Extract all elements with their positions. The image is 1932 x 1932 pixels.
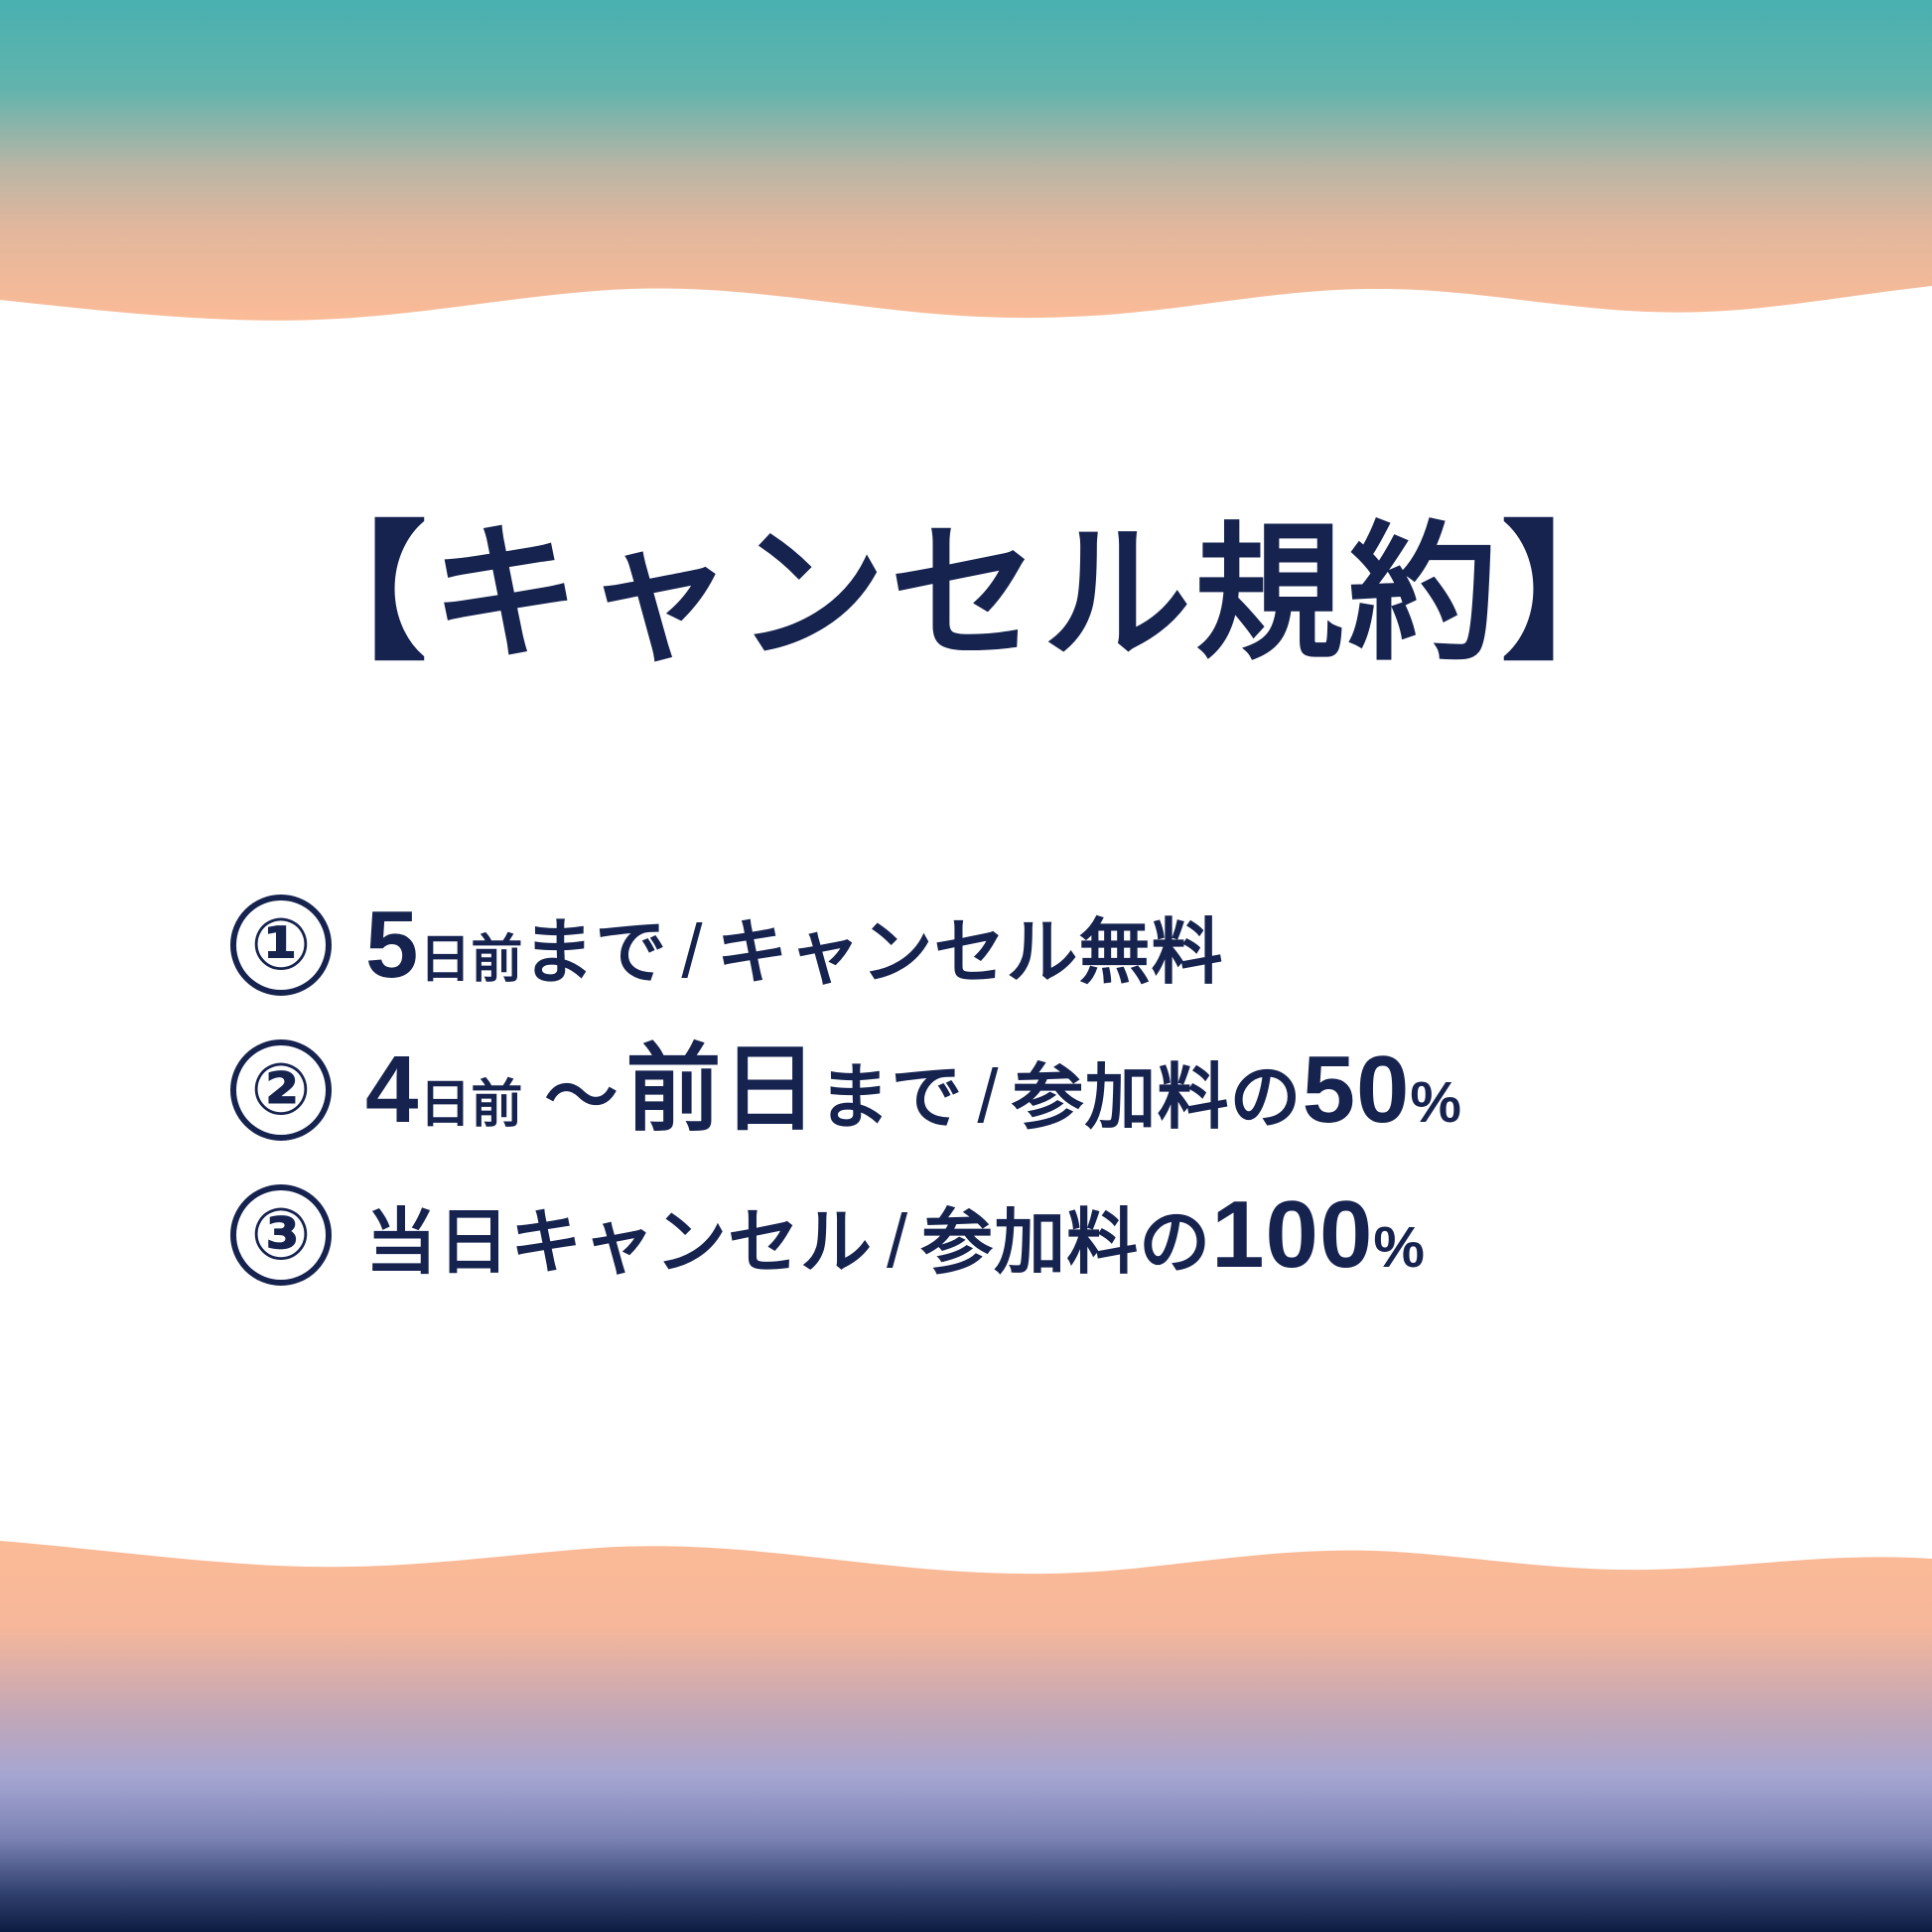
policy-1-fee-label: キャンセル無料 — [717, 917, 1224, 989]
policy-3-fee-unit: % — [1373, 1219, 1425, 1277]
top-gradient-band — [0, 0, 1932, 328]
policy-2-fee-value: 50 — [1303, 1042, 1411, 1138]
policy-2-range-mark: 〜 — [536, 1060, 625, 1134]
policy-2-separator: / — [963, 1059, 1012, 1135]
policy-2-fee-prefix: 参加料の — [1013, 1062, 1303, 1134]
policy-2-range-end: 前日 — [625, 1042, 818, 1138]
policy-3-fee-prefix: 参加料の — [921, 1207, 1211, 1279]
policy-marker-3: ③ — [230, 1184, 332, 1286]
policy-item-2: ② 4 日前 〜 前日 まで / 参加料の 50 % — [230, 1039, 1932, 1141]
policy-3-fee-value: 100 — [1211, 1187, 1373, 1283]
policy-1-separator: / — [667, 914, 716, 990]
cancellation-policy-card: 【キャンセル規約】 ① 5 日前 まで / キャンセル無料 ② 4 日前 — [0, 0, 1932, 1932]
policy-item-3: ③ 当日キャンセル / 参加料の 100 % — [230, 1184, 1932, 1286]
policy-list: ① 5 日前 まで / キャンセル無料 ② 4 日前 〜 前日 — [0, 895, 1932, 1286]
page-title: 【キャンセル規約】 — [278, 519, 1654, 668]
main-content: 【キャンセル規約】 ① 5 日前 まで / キャンセル無料 ② 4 日前 — [0, 328, 1932, 1525]
policy-2-fee-unit: % — [1410, 1074, 1461, 1132]
policy-2-deadline-unit: 日前 — [419, 1079, 522, 1131]
bottom-gradient-band — [0, 1525, 1932, 1932]
policy-text-1: 5 日前 まで / キャンセル無料 — [365, 897, 1224, 993]
bottom-wave-shape — [0, 1541, 1932, 1932]
policy-1-deadline-suffix: まで — [522, 917, 667, 989]
policy-3-separator: / — [873, 1204, 921, 1280]
policy-marker-2: ② — [230, 1039, 332, 1141]
policy-2-deadline-number: 4 — [365, 1042, 419, 1138]
policy-1-deadline-unit: 日前 — [419, 934, 522, 986]
policy-item-1: ① 5 日前 まで / キャンセル無料 — [230, 895, 1932, 996]
top-wave-shape — [0, 0, 1932, 321]
policy-text-2: 4 日前 〜 前日 まで / 参加料の 50 % — [365, 1042, 1461, 1138]
policy-marker-1: ① — [230, 895, 332, 996]
policy-3-deadline-text: 当日キャンセル — [365, 1207, 873, 1279]
bottom-gradient-svg — [0, 1525, 1932, 1932]
top-gradient-svg — [0, 0, 1932, 328]
title-row: 【キャンセル規約】 — [0, 419, 1932, 767]
policy-text-3: 当日キャンセル / 参加料の 100 % — [365, 1187, 1425, 1283]
policy-1-deadline-number: 5 — [365, 897, 419, 993]
policy-2-deadline-suffix: まで — [818, 1062, 963, 1134]
